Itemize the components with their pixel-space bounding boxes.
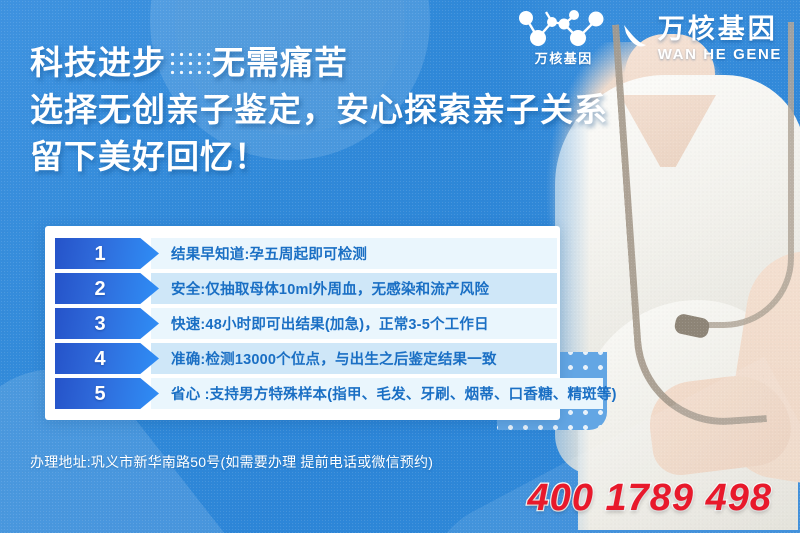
headline-line1-part-a: 科技进步 [30, 40, 166, 87]
logo-mark-label: 万核基因 [535, 48, 593, 67]
feature-text: 安全:仅抽取母体10ml外周血，无感染和流产风险 [171, 278, 489, 299]
feature-number-badge: 4 [55, 343, 159, 374]
brand-logo: 万核基因 万核基因 WAN HE GENE [516, 8, 782, 70]
office-address: 办理地址:巩义市新华南路50号(如需要办理 提前电话或微信预约) [30, 452, 433, 472]
molecule-network-glyph [516, 8, 612, 52]
molecule-network-icon: 万核基因 [516, 8, 612, 70]
feature-row: 3 快速:48小时即可出结果(加急)，正常3-5个工作日 [55, 308, 575, 339]
feature-number-badge: 5 [55, 378, 159, 409]
feature-text: 结果早知道:孕五周起即可检测 [171, 243, 367, 264]
logo-name-en: WAN HE GENE [658, 47, 782, 62]
feature-row: 2 安全:仅抽取母体10ml外周血，无感染和流产风险 [55, 273, 575, 304]
feature-number: 1 [94, 244, 105, 264]
feature-row: 4 准确:检测13000个位点，与出生之后鉴定结果一致 [55, 343, 575, 374]
feature-number: 4 [94, 349, 105, 369]
feature-text: 准确:检测13000个位点，与出生之后鉴定结果一致 [171, 348, 497, 369]
feature-number: 5 [94, 384, 105, 404]
feature-number: 2 [94, 279, 105, 299]
headline-line-3: 留下美好回忆！ [30, 134, 608, 181]
feature-row: 5 省心 :支持男方特殊样本(指甲、毛发、牙刷、烟蒂、口香糖、精斑等) [55, 378, 575, 409]
promo-poster: 万核基因 万核基因 WAN HE GENE 科技进步 无需痛苦 选择无创亲子鉴定… [0, 0, 800, 533]
logo-wordmark: 万核基因 WAN HE GENE [658, 16, 782, 62]
hotline-phone-number[interactable]: 400 1789 498 [528, 477, 772, 520]
feature-text: 省心 :支持男方特殊样本(指甲、毛发、牙刷、烟蒂、口香糖、精斑等) [171, 383, 617, 404]
headline-line1-part-b: 无需痛苦 [212, 40, 348, 87]
feature-number-badge: 1 [55, 238, 159, 269]
logo-name-cn: 万核基因 [658, 16, 778, 43]
dotted-grid-decoration [168, 50, 210, 76]
feature-number: 3 [94, 314, 105, 334]
logo-brush-stroke-icon [622, 19, 648, 59]
headline-line-2: 选择无创亲子鉴定，安心探索亲子关系 [30, 87, 608, 134]
features-card: 1 结果早知道:孕五周起即可检测 2 安全:仅抽取母体10ml外周血，无感染和流… [45, 226, 560, 420]
feature-number-badge: 3 [55, 308, 159, 339]
feature-row: 1 结果早知道:孕五周起即可检测 [55, 238, 575, 269]
feature-text: 快速:48小时即可出结果(加急)，正常3-5个工作日 [171, 313, 489, 334]
feature-number-badge: 2 [55, 273, 159, 304]
features-list: 1 结果早知道:孕五周起即可检测 2 安全:仅抽取母体10ml外周血，无感染和流… [55, 238, 575, 413]
